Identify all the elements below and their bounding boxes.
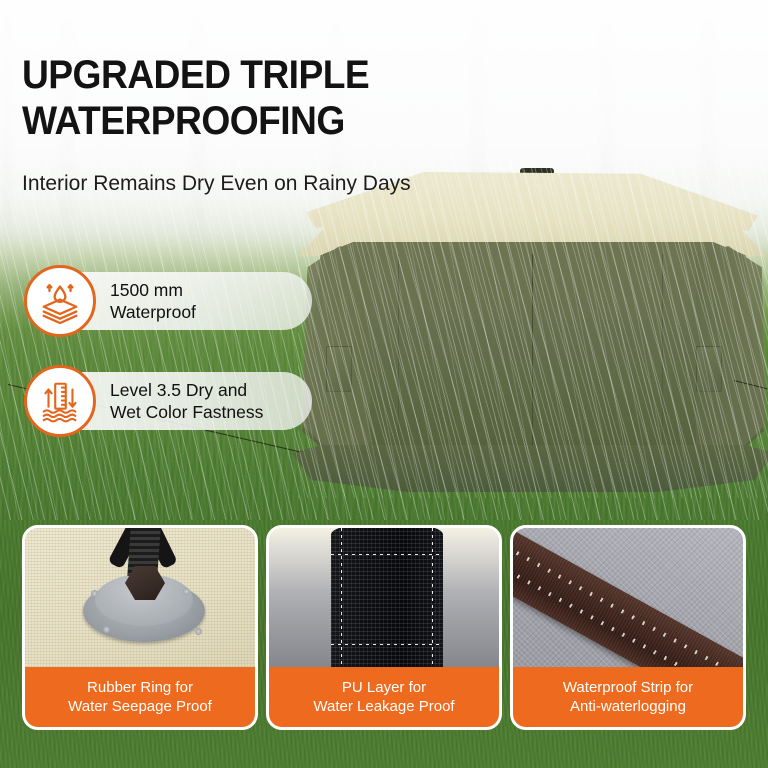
stitch-line-left [341, 528, 342, 673]
detail-card-waterproof-strip[interactable]: Waterproof Strip for Anti-waterlogging [510, 525, 746, 730]
waterproof-strip-photo [513, 528, 743, 673]
subheadline: Interior Remains Dry Even on Rainy Days [22, 170, 422, 198]
stitch-line-bottom [331, 644, 443, 645]
feature-label-color-fastness: Level 3.5 Dry and Wet Color Fastness [110, 379, 263, 423]
screw-3 [183, 588, 190, 595]
screw-4 [195, 628, 202, 635]
pu-seam-tape [331, 528, 443, 673]
rubber-ring-grommet-photo [25, 528, 255, 673]
pu-layer-seam-tape-photo [269, 528, 499, 673]
detail-cards-strip: Rubber Ring for Water Seepage Proof PU L… [0, 520, 768, 768]
tent-seam-right [662, 254, 663, 454]
headline-line-1: UPGRADED TRIPLE [22, 53, 369, 97]
card-caption-rubber-ring: Rubber Ring for Water Seepage Proof [25, 667, 255, 727]
headline-line-2: WATERPROOFING [22, 98, 459, 144]
stitch-line-right [432, 528, 433, 673]
tent-center-seam [532, 254, 533, 454]
headline: UPGRADED TRIPLE WATERPROOFING [22, 52, 459, 144]
tent-product-image [298, 168, 768, 498]
tent-window-left [326, 346, 352, 392]
tent-ground-skirt [292, 444, 768, 494]
screw-2 [103, 626, 110, 633]
screw-1 [91, 590, 98, 597]
tape-weave-texture [331, 528, 443, 673]
tent-walls [302, 242, 764, 462]
card-caption-waterproof-strip: Waterproof Strip for Anti-waterlogging [513, 667, 743, 727]
detail-card-pu-layer[interactable]: PU Layer for Water Leakage Proof [266, 525, 502, 730]
stitch-line-top [331, 554, 443, 555]
tent-window-right [696, 346, 722, 392]
tent-seam-left [398, 254, 399, 454]
feature-label-waterproof: 1500 mm Waterproof [110, 279, 196, 323]
card-caption-pu-layer: PU Layer for Water Leakage Proof [269, 667, 499, 727]
detail-card-rubber-ring[interactable]: Rubber Ring for Water Seepage Proof [22, 525, 258, 730]
color-fastness-gauge-icon [24, 365, 96, 437]
waterproof-layers-icon [24, 265, 96, 337]
promo-graphic: UPGRADED TRIPLE WATERPROOFING Interior R… [0, 0, 768, 768]
